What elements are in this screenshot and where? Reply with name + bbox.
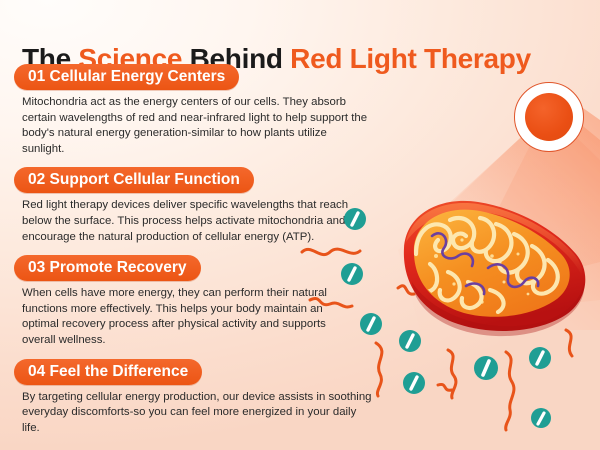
teal-particle	[399, 330, 421, 352]
teal-particle	[474, 356, 498, 380]
orange-squiggle	[566, 330, 572, 356]
orange-squiggle	[398, 286, 414, 294]
orange-squiggle	[506, 352, 514, 430]
orange-squiggle	[310, 298, 352, 306]
orange-squiggle	[438, 384, 452, 390]
infographic-canvas: The Science Behind Red Light Therapy 01 …	[0, 0, 600, 450]
orange-squiggle	[302, 249, 360, 254]
teal-particle	[360, 313, 382, 335]
floating-particles	[0, 0, 600, 450]
teal-particle	[531, 408, 551, 428]
teal-particle	[529, 347, 551, 369]
teal-particle	[403, 372, 425, 394]
teal-particle	[344, 208, 366, 230]
teal-particle	[341, 263, 363, 285]
teal-particle-group	[341, 208, 551, 428]
orange-squiggle	[376, 343, 382, 396]
